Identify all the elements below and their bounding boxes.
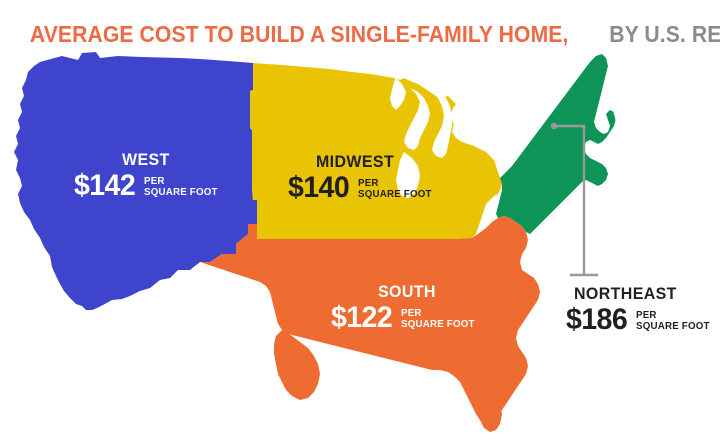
- unit-line-2: SQUARE FOOT: [358, 189, 432, 201]
- unit-line-1: PER: [144, 176, 218, 188]
- unit-line-2: SQUARE FOOT: [636, 321, 710, 333]
- page-title: AVERAGE COST TO BUILD A SINGLE-FAMILY HO…: [0, 17, 720, 51]
- region-unit-northeast: PER SQUARE FOOT: [636, 310, 710, 333]
- infographic-root: AVERAGE COST TO BUILD A SINGLE-FAMILY HO…: [0, 0, 720, 439]
- region-label-midwest: MIDWEST $140 PER SQUARE FOOT: [288, 153, 438, 203]
- region-name-south: SOUTH: [378, 283, 474, 300]
- region-value-northeast: $186: [566, 306, 627, 335]
- region-name-west: WEST: [122, 151, 217, 168]
- unit-line-2: SQUARE FOOT: [144, 187, 218, 199]
- unit-line-2: SQUARE FOOT: [401, 319, 475, 331]
- region-unit-south: PER SQUARE FOOT: [401, 308, 475, 331]
- region-unit-midwest: PER SQUARE FOOT: [358, 178, 432, 201]
- region-name-northeast: NORTHEAST: [574, 285, 707, 302]
- title-sub-text: BY U.S. REGION: [610, 17, 720, 51]
- region-unit-west: PER SQUARE FOOT: [144, 176, 218, 199]
- region-label-west: WEST $142 PER SQUARE FOOT: [74, 151, 224, 201]
- unit-line-1: PER: [358, 178, 432, 190]
- map-region-midwest[interactable]: [250, 63, 502, 239]
- region-value-row-west: $142 PER SQUARE FOOT: [74, 172, 224, 201]
- region-value-row-south: $122 PER SQUARE FOOT: [331, 304, 481, 333]
- region-value-south: $122: [331, 304, 392, 333]
- region-name-midwest: MIDWEST: [316, 153, 430, 170]
- region-value-row-northeast: $186 PER SQUARE FOOT: [566, 306, 716, 335]
- unit-line-1: PER: [401, 308, 475, 320]
- map-region-northeast[interactable]: [496, 54, 616, 234]
- region-value-row-midwest: $140 PER SQUARE FOOT: [288, 174, 438, 203]
- title-main-text: AVERAGE COST TO BUILD A SINGLE-FAMILY HO…: [30, 17, 569, 51]
- region-value-midwest: $140: [288, 174, 349, 203]
- map-texas[interactable]: [274, 330, 320, 400]
- region-label-northeast: NORTHEAST $186 PER SQUARE FOOT: [566, 285, 716, 335]
- region-label-south: SOUTH $122 PER SQUARE FOOT: [331, 283, 481, 333]
- unit-line-1: PER: [636, 310, 710, 322]
- region-value-west: $142: [74, 172, 135, 201]
- atlantic-ocean-trim: [600, 96, 652, 160]
- us-region-map: [0, 48, 720, 439]
- map-svg: [0, 48, 720, 439]
